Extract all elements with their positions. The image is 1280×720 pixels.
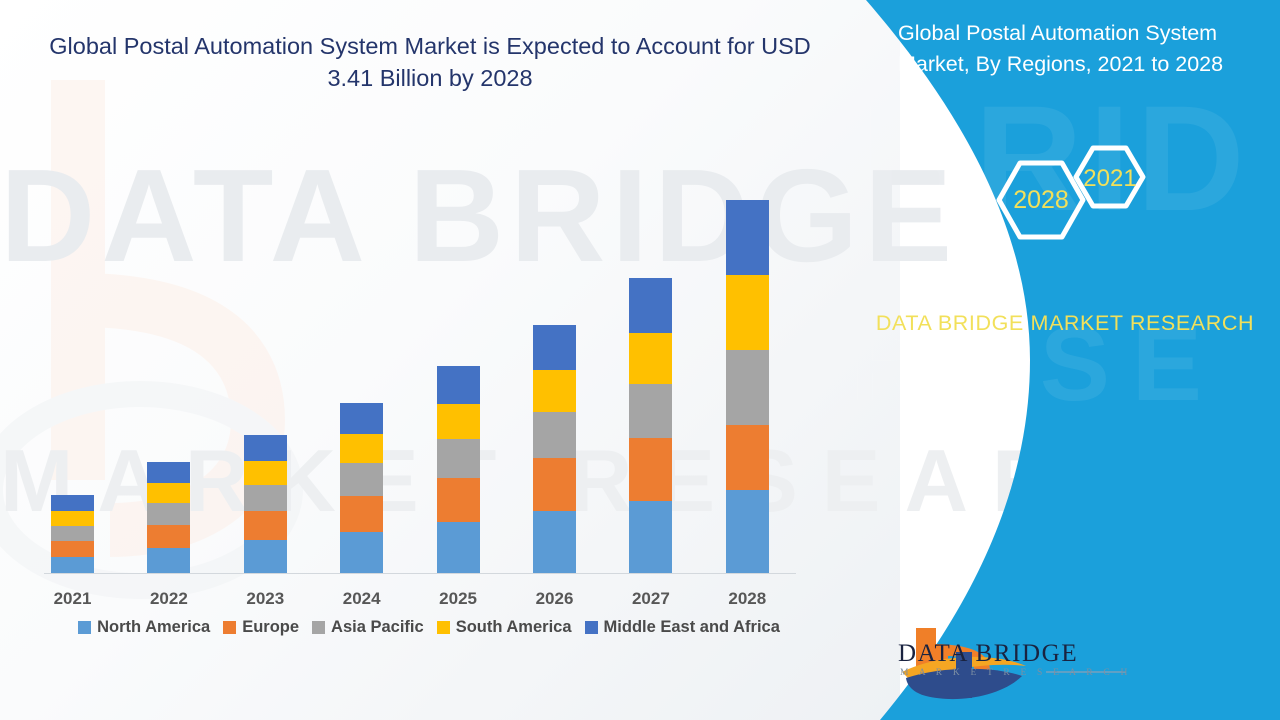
bar-segment xyxy=(51,526,94,541)
x-axis-tick-labels: 20212022202320242025202620272028 xyxy=(0,589,900,615)
legend-item[interactable]: Europe xyxy=(223,618,299,637)
x-tick-2023: 2023 xyxy=(230,589,300,609)
bar-segment xyxy=(437,366,480,404)
x-tick-2021: 2021 xyxy=(38,589,108,609)
legend-label: Middle East and Africa xyxy=(604,618,780,637)
infographic-canvas: DATA BRIDGE MARKET RESEARCH Global Posta… xyxy=(0,0,1280,720)
bar-segment xyxy=(726,275,769,350)
bar-segment xyxy=(533,325,576,370)
bar-segment xyxy=(51,557,94,573)
bar-segment xyxy=(437,522,480,573)
bar-segment xyxy=(147,525,190,548)
legend-swatch-icon xyxy=(223,621,236,634)
hexagon-2021-label: 2021 xyxy=(1083,165,1136,192)
bar-segment xyxy=(340,403,383,434)
bar-segment xyxy=(437,404,480,439)
bar-segment xyxy=(244,511,287,540)
bar-segment xyxy=(533,458,576,511)
x-tick-2022: 2022 xyxy=(134,589,204,609)
chart-area: DATA BRIDGE MARKET RESEARCH Global Posta… xyxy=(0,0,900,720)
x-tick-2024: 2024 xyxy=(327,589,397,609)
bar-segment xyxy=(51,495,94,511)
bar-2026 xyxy=(533,325,576,573)
bar-segment xyxy=(340,532,383,573)
bar-segment xyxy=(147,483,190,503)
legend-swatch-icon xyxy=(312,621,325,634)
chart-legend: North AmericaEuropeAsia PacificSouth Ame… xyxy=(0,618,858,637)
legend-label: Europe xyxy=(242,618,299,637)
legend-swatch-icon xyxy=(585,621,598,634)
bar-segment xyxy=(629,278,672,333)
legend-label: South America xyxy=(456,618,572,637)
bar-segment xyxy=(244,435,287,461)
bar-segment xyxy=(726,490,769,573)
legend-swatch-icon xyxy=(78,621,91,634)
bar-2021 xyxy=(51,495,94,573)
panel-title: Global Postal Automation System Market, … xyxy=(898,18,1270,79)
bar-segment xyxy=(533,511,576,573)
bar-segment xyxy=(51,541,94,557)
bar-segment xyxy=(340,463,383,496)
legend-item[interactable]: South America xyxy=(437,618,572,637)
bar-2025 xyxy=(437,366,480,573)
bar-segment xyxy=(340,496,383,532)
bar-2024 xyxy=(340,403,383,573)
legend-item[interactable]: North America xyxy=(78,618,210,637)
bar-2023 xyxy=(244,435,287,573)
plot-region: 20212022202320242025202620272028 xyxy=(0,0,900,720)
bar-2022 xyxy=(147,462,190,573)
legend-swatch-icon xyxy=(437,621,450,634)
bar-segment xyxy=(340,434,383,463)
brand-name: DATA BRIDGE MARKET RESEARCH xyxy=(860,308,1270,339)
bar-segment xyxy=(726,350,769,425)
bar-segment xyxy=(629,384,672,438)
brand-panel-content: Global Postal Automation System Market, … xyxy=(820,0,1280,720)
bar-segment xyxy=(629,438,672,501)
logo-wordmark: DATA BRIDGE xyxy=(898,640,1078,668)
logo-subtitle: M A R K E T R E S E A R C H xyxy=(900,668,1076,678)
bar-segment xyxy=(533,370,576,412)
legend-label: North America xyxy=(97,618,210,637)
x-tick-2025: 2025 xyxy=(423,589,493,609)
x-axis-line xyxy=(44,573,796,574)
bar-segment xyxy=(629,333,672,384)
bar-segment xyxy=(147,548,190,573)
legend-item[interactable]: Middle East and Africa xyxy=(585,618,780,637)
hexagon-2028-label: 2028 xyxy=(1013,186,1069,214)
bar-segment xyxy=(726,425,769,490)
bar-segment xyxy=(51,511,94,526)
x-tick-2028: 2028 xyxy=(712,589,782,609)
bar-2028 xyxy=(726,200,769,573)
bar-segment xyxy=(244,485,287,511)
bar-segment xyxy=(147,503,190,525)
x-tick-2027: 2027 xyxy=(616,589,686,609)
bar-2027 xyxy=(629,278,672,573)
bar-segment xyxy=(244,461,287,485)
legend-label: Asia Pacific xyxy=(331,618,424,637)
bar-segment xyxy=(629,501,672,573)
legend-item[interactable]: Asia Pacific xyxy=(312,618,424,637)
bar-segment xyxy=(244,540,287,573)
bar-segment xyxy=(533,412,576,458)
hexagon-badges: 2028 2021 xyxy=(980,145,1170,270)
bar-segment xyxy=(726,200,769,275)
bar-segment xyxy=(147,462,190,483)
bar-segment xyxy=(437,439,480,478)
x-tick-2026: 2026 xyxy=(520,589,590,609)
bar-segment xyxy=(437,478,480,522)
